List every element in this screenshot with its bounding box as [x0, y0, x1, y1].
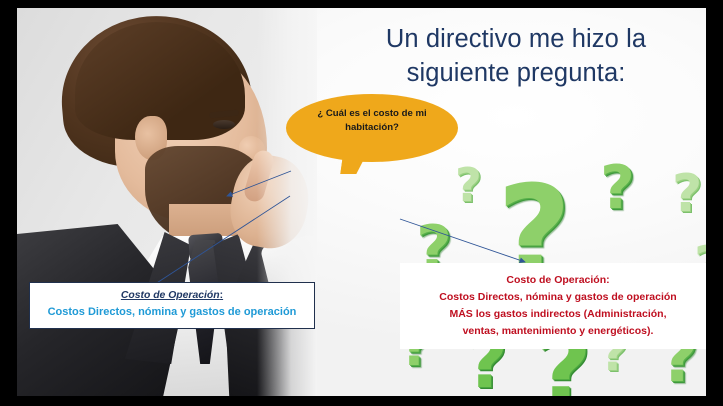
slide-canvas: ??????????? Un directivo me hizo la sigu… — [17, 8, 706, 396]
right-box-line-1: Costo de Operación: — [408, 272, 706, 289]
question-mark-icon: ? — [672, 168, 702, 220]
speech-bubble: ¿ Cuál es el costo de mi habitación? — [286, 94, 458, 178]
title-line-1: Un directivo me hizo la — [337, 22, 695, 56]
right-box-line-4: ventas, mantenimiento y energéticos). — [408, 323, 706, 340]
left-box-heading-text: Costo de Operación — [121, 290, 220, 301]
left-box-heading-colon: : — [220, 290, 223, 301]
speech-bubble-tail — [340, 150, 368, 174]
question-mark-icon: ? — [455, 162, 482, 208]
eye — [213, 120, 235, 129]
title-line-2: siguiente pregunta: — [337, 56, 695, 90]
right-box-line-2: Costos Directos, nómina y gastos de oper… — [408, 289, 706, 306]
bubble-line-2: habitación? — [296, 121, 448, 135]
photo-edge-fade — [257, 8, 317, 396]
page-title: Un directivo me hizo la siguiente pregun… — [337, 22, 695, 90]
left-box-body: Costos Directos, nómina y gastos de oper… — [36, 304, 308, 321]
right-box-line-3: MÁS los gastos indirectos (Administració… — [408, 306, 706, 323]
left-box-heading: Costo de Operación: — [36, 288, 308, 303]
bubble-line-1: ¿ Cuál es el costo de mi — [296, 107, 448, 121]
right-callout-box: Costo de Operación: Costos Directos, nóm… — [400, 263, 706, 349]
slide-frame: ??????????? Un directivo me hizo la sigu… — [0, 0, 723, 406]
speech-bubble-text: ¿ Cuál es el costo de mi habitación? — [296, 107, 448, 136]
businessman-photo — [17, 8, 317, 396]
question-mark-icon: ? — [600, 158, 635, 218]
left-callout-box: Costo de Operación: Costos Directos, nóm… — [29, 282, 315, 329]
